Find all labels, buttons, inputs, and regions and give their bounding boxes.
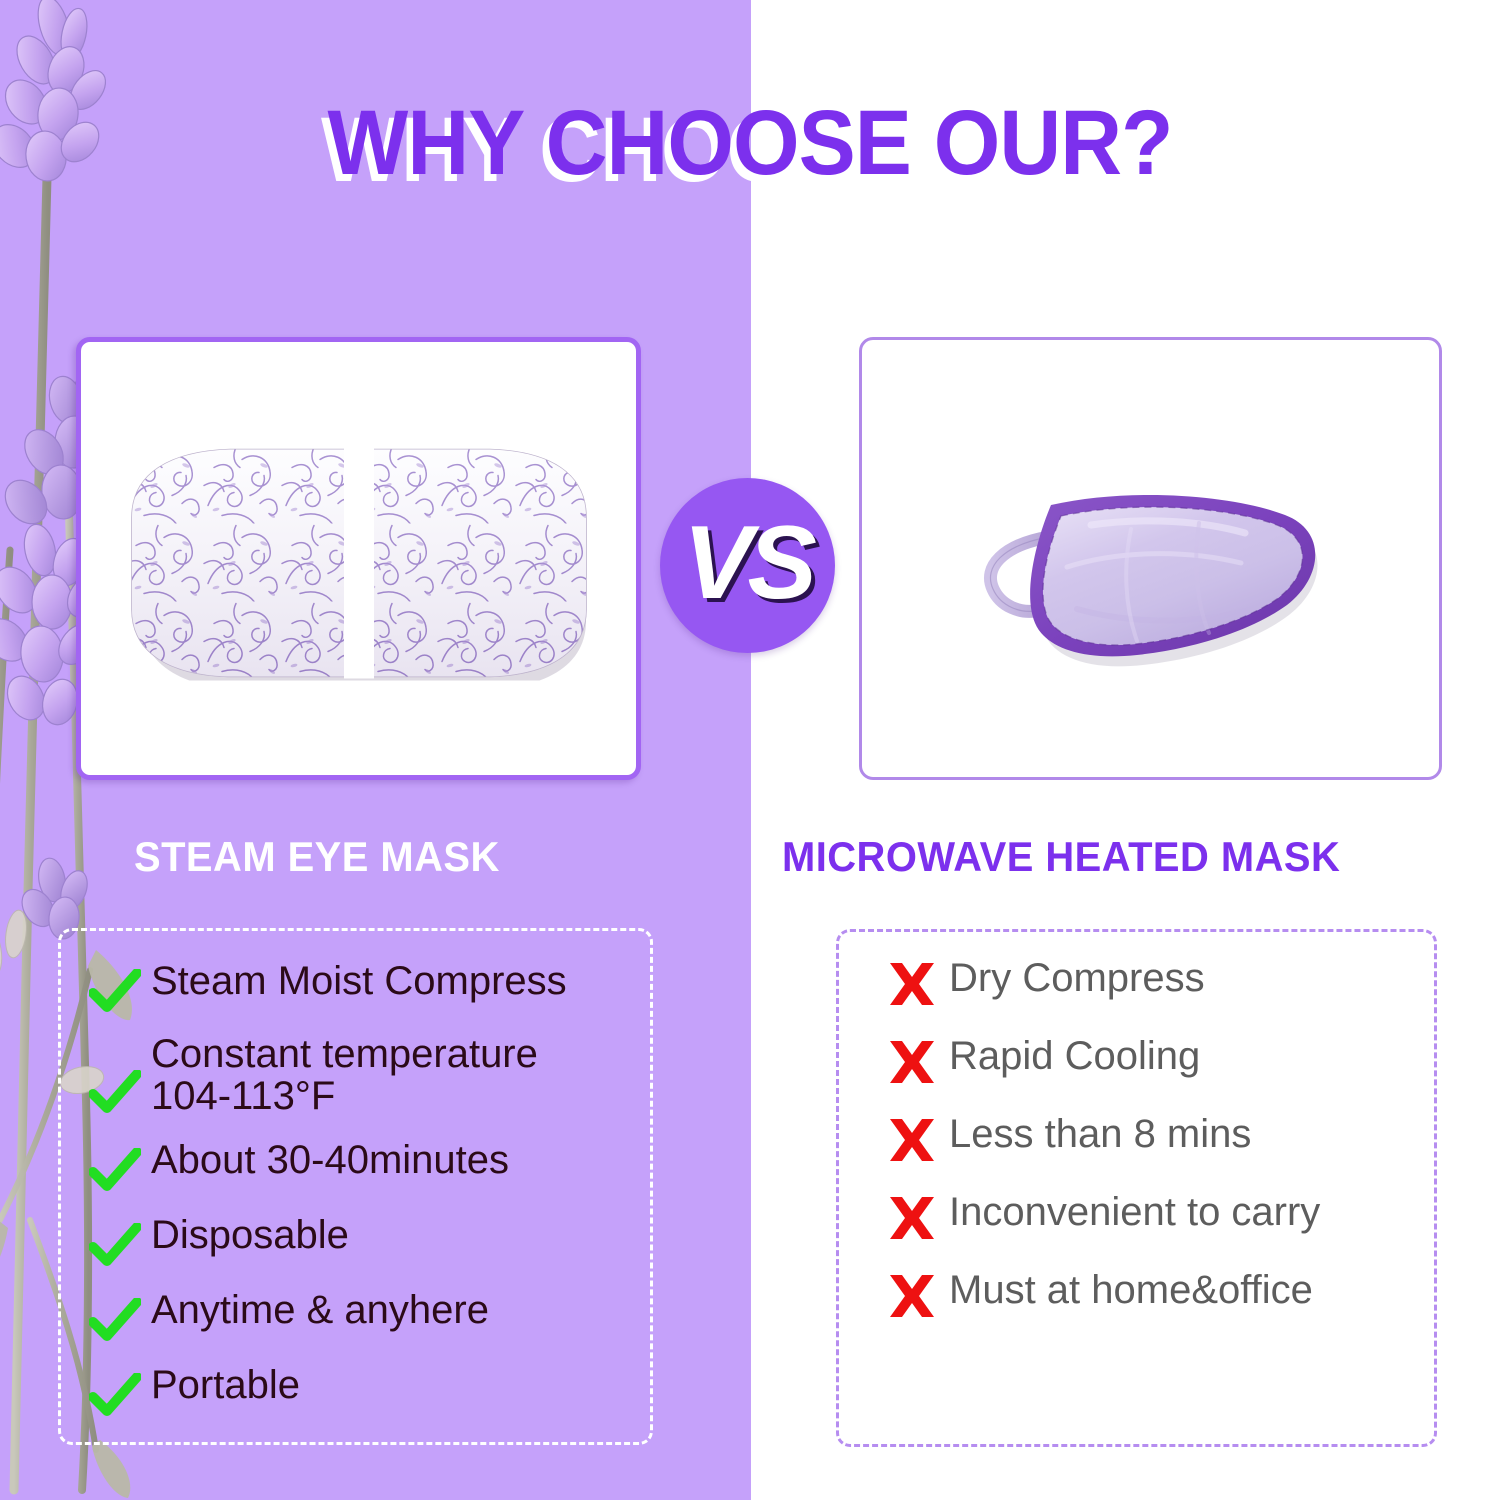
list-item: Must at home&office bbox=[887, 1266, 1434, 1319]
feature-text: Constant temperature 104-113°F bbox=[151, 1032, 538, 1117]
feature-text: Portable bbox=[151, 1361, 300, 1408]
list-item: Rapid Cooling bbox=[887, 1032, 1434, 1085]
feature-box-steam: Steam Moist Compress Constant temperatur… bbox=[58, 928, 653, 1445]
product-card-microwave-heated-mask bbox=[859, 337, 1442, 780]
page-title: WHY CHOOSE OUR? bbox=[53, 95, 1448, 192]
feature-text: Disposable bbox=[151, 1211, 349, 1258]
list-item: Steam Moist Compress bbox=[89, 957, 650, 1013]
list-item: Anytime & anyhere bbox=[89, 1286, 650, 1342]
green-check-icon bbox=[89, 1032, 151, 1114]
red-x-icon bbox=[887, 1032, 949, 1085]
feature-text: Less than 8 mins bbox=[949, 1110, 1251, 1157]
feature-text: Steam Moist Compress bbox=[151, 957, 567, 1004]
feature-text: Must at home&office bbox=[949, 1266, 1313, 1313]
feature-text: Dry Compress bbox=[949, 954, 1205, 1001]
feature-list-steam: Steam Moist Compress Constant temperatur… bbox=[61, 931, 650, 1442]
red-x-icon bbox=[887, 1266, 949, 1319]
list-item: Dry Compress bbox=[887, 954, 1434, 1007]
list-item: Inconvenient to carry bbox=[887, 1188, 1434, 1241]
list-item: Portable bbox=[89, 1361, 650, 1417]
green-check-icon bbox=[89, 1361, 151, 1417]
feature-text: About 30-40minutes bbox=[151, 1136, 509, 1183]
vs-badge: VS bbox=[660, 478, 835, 653]
list-item: Constant temperature 104-113°F bbox=[89, 1032, 650, 1117]
list-item: Disposable bbox=[89, 1211, 650, 1267]
feature-list-microwave: Dry Compress Rapid Cooling Less than 8 m… bbox=[839, 932, 1434, 1444]
product-card-steam-eye-mask bbox=[76, 337, 641, 780]
list-item: Less than 8 mins bbox=[887, 1110, 1434, 1163]
green-check-icon bbox=[89, 1136, 151, 1192]
red-x-icon bbox=[887, 954, 949, 1007]
feature-box-microwave: Dry Compress Rapid Cooling Less than 8 m… bbox=[836, 929, 1437, 1447]
feature-text: Rapid Cooling bbox=[949, 1032, 1200, 1079]
green-check-icon bbox=[89, 1286, 151, 1342]
green-check-icon bbox=[89, 1211, 151, 1267]
column-heading-microwave: MICROWAVE HEATED MASK bbox=[782, 833, 1340, 881]
column-heading-steam: STEAM EYE MASK bbox=[134, 833, 500, 881]
red-x-icon bbox=[887, 1110, 949, 1163]
steam-eye-mask-image bbox=[124, 445, 594, 680]
list-item: About 30-40minutes bbox=[89, 1136, 650, 1192]
vs-label: VS bbox=[683, 511, 812, 615]
microwave-heated-mask-image bbox=[931, 417, 1371, 717]
feature-text: Anytime & anyhere bbox=[151, 1286, 489, 1333]
green-check-icon bbox=[89, 957, 151, 1013]
red-x-icon bbox=[887, 1188, 949, 1241]
feature-text: Inconvenient to carry bbox=[949, 1188, 1320, 1235]
